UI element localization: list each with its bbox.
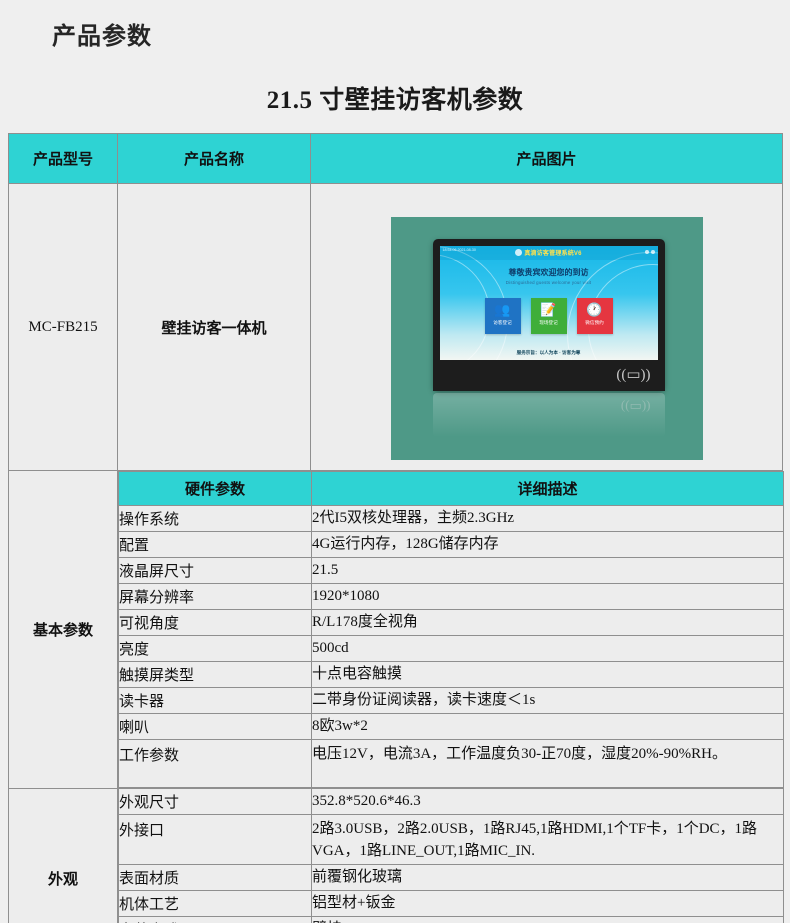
close-icon[interactable] [651,250,655,254]
product-model-value: MC-FB215 [9,184,118,471]
table-row: 配置 4G运行内存，128G储存内存 [119,532,784,558]
app-logo-icon [515,249,522,256]
param-key: 触摸屏类型 [119,662,312,688]
column-header-model: 产品型号 [9,134,118,184]
appearance-parameters-table: 外观尺寸 352.8*520.6*46.3 外接口 2路3.0USB，2路2.0… [118,788,784,923]
param-key: 读卡器 [119,688,312,714]
tile-onsite-registration[interactable]: 📝 现场登记 [531,298,567,334]
product-row: MC-FB215 壁挂访客一体机 18:54:06 2021-08-30 [9,184,783,471]
param-value: 前覆钢化玻璃 [312,865,784,891]
param-value: 21.5 [312,558,784,584]
device-chin: ((▭)) [433,361,665,391]
param-key: 配置 [119,532,312,558]
param-key: 外观尺寸 [119,789,312,815]
table-row: 可视角度 R/L178度全视角 [119,610,784,636]
table-row: 机体工艺 铝型材+钣金 [119,891,784,917]
nfc-reader-icon-reflection: ((▭)) [621,399,651,415]
app-titlebar: 18:54:06 2021-08-30 真滴访客管理系统V6 [440,246,658,260]
product-name-value: 壁挂访客一体机 [118,184,311,471]
param-value: 500cd [312,636,784,662]
clock-badge: 18:54:06 2021-08-30 [443,248,476,253]
table-row: 屏幕分辨率 1920*1080 [119,584,784,610]
param-value: 352.8*520.6*46.3 [312,789,784,815]
document-edit-icon: 📝 [540,303,556,317]
basic-parameters-table: 硬件参数 详细描述 操作系统 2代I5双核处理器，主频2.3GHz 配置 4G运… [118,471,784,788]
param-value: 1920*1080 [312,584,784,610]
table-row: 液晶屏尺寸 21.5 [119,558,784,584]
welcome-heading-en: Distinguished guests welcome your visit [440,280,658,285]
table-row: 表面材质 前覆钢化玻璃 [119,865,784,891]
param-key: 安装方式 [119,917,312,923]
nfc-reader-icon: ((▭)) [616,368,650,383]
screen-footer-note: 服务宗旨：以人为本 · 访客为尊 [440,350,658,356]
param-value: 十点电容触摸 [312,662,784,688]
param-key: 液晶屏尺寸 [119,558,312,584]
table-row: 喇叭 8欧3w*2 [119,714,784,740]
visitors-icon: 👥 [494,303,510,317]
table-row: 安装方式 壁挂 [119,917,784,923]
table-row: 亮度 500cd [119,636,784,662]
param-key: 屏幕分辨率 [119,584,312,610]
column-header-name: 产品名称 [118,134,311,184]
param-key: 外接口 [119,815,312,865]
tile-label: 现场登记 [539,320,557,326]
param-value: 2代I5双核处理器，主频2.3GHz [312,506,784,532]
group-label-basic: 基本参数 [9,471,118,789]
tile-label: 访客登记 [493,320,511,326]
app-tile-row: 👥 访客登记 📝 现场登记 🕐 微信预约 [440,298,658,334]
specification-table: 产品型号 产品名称 产品图片 MC-FB215 壁挂访客一体机 [8,133,783,923]
param-value: 二带身份证阅读器，读卡速度＜1s [312,688,784,714]
param-value: R/L178度全视角 [312,610,784,636]
param-value: 2路3.0USB，2路2.0USB，1路RJ45,1路HDMI,1个TF卡，1个… [312,815,784,865]
group-content-basic: 硬件参数 详细描述 操作系统 2代I5双核处理器，主频2.3GHz 配置 4G运… [118,471,783,789]
sub-header-detail: 详细描述 [312,472,784,506]
param-key: 操作系统 [119,506,312,532]
param-value: 电压12V，电流3A，工作温度负30-正70度，湿度20%-90%RH。 [312,740,784,788]
param-key: 表面材质 [119,865,312,891]
sub-header-hardware: 硬件参数 [119,472,312,506]
tile-visitor-registration[interactable]: 👥 访客登记 [485,298,521,334]
table-row: 工作参数 电压12V，电流3A，工作温度负30-正70度，湿度20%-90%RH… [119,740,784,788]
device-reflection: ((▭)) [433,393,665,437]
device-body: 18:54:06 2021-08-30 真滴访客管理系统V6 尊敬贵宾欢迎您的到… [433,239,665,391]
product-image-cell: 18:54:06 2021-08-30 真滴访客管理系统V6 尊敬贵宾欢迎您的到… [311,184,783,471]
device-screen: 18:54:06 2021-08-30 真滴访客管理系统V6 尊敬贵宾欢迎您的到… [440,246,658,360]
clock-icon: 🕐 [586,303,602,317]
sub-header-row: 硬件参数 详细描述 [119,472,784,506]
param-value: 壁挂 [312,917,784,923]
tile-label: 微信预约 [585,320,603,326]
page-title: 产品参数 [52,16,152,51]
group-content-appearance: 外观尺寸 352.8*520.6*46.3 外接口 2路3.0USB，2路2.0… [118,788,783,923]
param-key: 可视角度 [119,610,312,636]
group-row-basic: 基本参数 硬件参数 详细描述 操作系统 2代I5双核处理器，主频2.3GHz [9,471,783,789]
group-label-appearance: 外观 [9,788,118,923]
table-row: 外观尺寸 352.8*520.6*46.3 [119,789,784,815]
param-key: 喇叭 [119,714,312,740]
table-header-row: 产品型号 产品名称 产品图片 [9,134,783,184]
param-key: 工作参数 [119,740,312,788]
param-key: 亮度 [119,636,312,662]
product-photo: 18:54:06 2021-08-30 真滴访客管理系统V6 尊敬贵宾欢迎您的到… [391,217,703,460]
spec-table-title: 21.5 寸壁挂访客机参数 [0,80,790,116]
param-value: 4G运行内存，128G储存内存 [312,532,784,558]
table-row: 操作系统 2代I5双核处理器，主频2.3GHz [119,506,784,532]
param-value: 铝型材+钣金 [312,891,784,917]
param-key: 机体工艺 [119,891,312,917]
welcome-heading-cn: 尊敬贵宾欢迎您的到访 [440,267,658,278]
table-row: 外接口 2路3.0USB，2路2.0USB，1路RJ45,1路HDMI,1个TF… [119,815,784,865]
table-row: 读卡器 二带身份证阅读器，读卡速度＜1s [119,688,784,714]
table-row: 触摸屏类型 十点电容触摸 [119,662,784,688]
column-header-image: 产品图片 [311,134,783,184]
tile-wechat-appointment[interactable]: 🕐 微信预约 [577,298,613,334]
param-value: 8欧3w*2 [312,714,784,740]
product-spec-page: 产品参数 21.5 寸壁挂访客机参数 产品型号 产品名称 产品图片 MC-FB2… [0,0,790,923]
minimize-icon[interactable] [645,250,649,254]
app-title: 真滴访客管理系统V6 [524,248,581,257]
group-row-appearance: 外观 外观尺寸 352.8*520.6*46.3 外接口 2路3.0USB，2路… [9,788,783,923]
window-controls[interactable] [645,250,655,254]
